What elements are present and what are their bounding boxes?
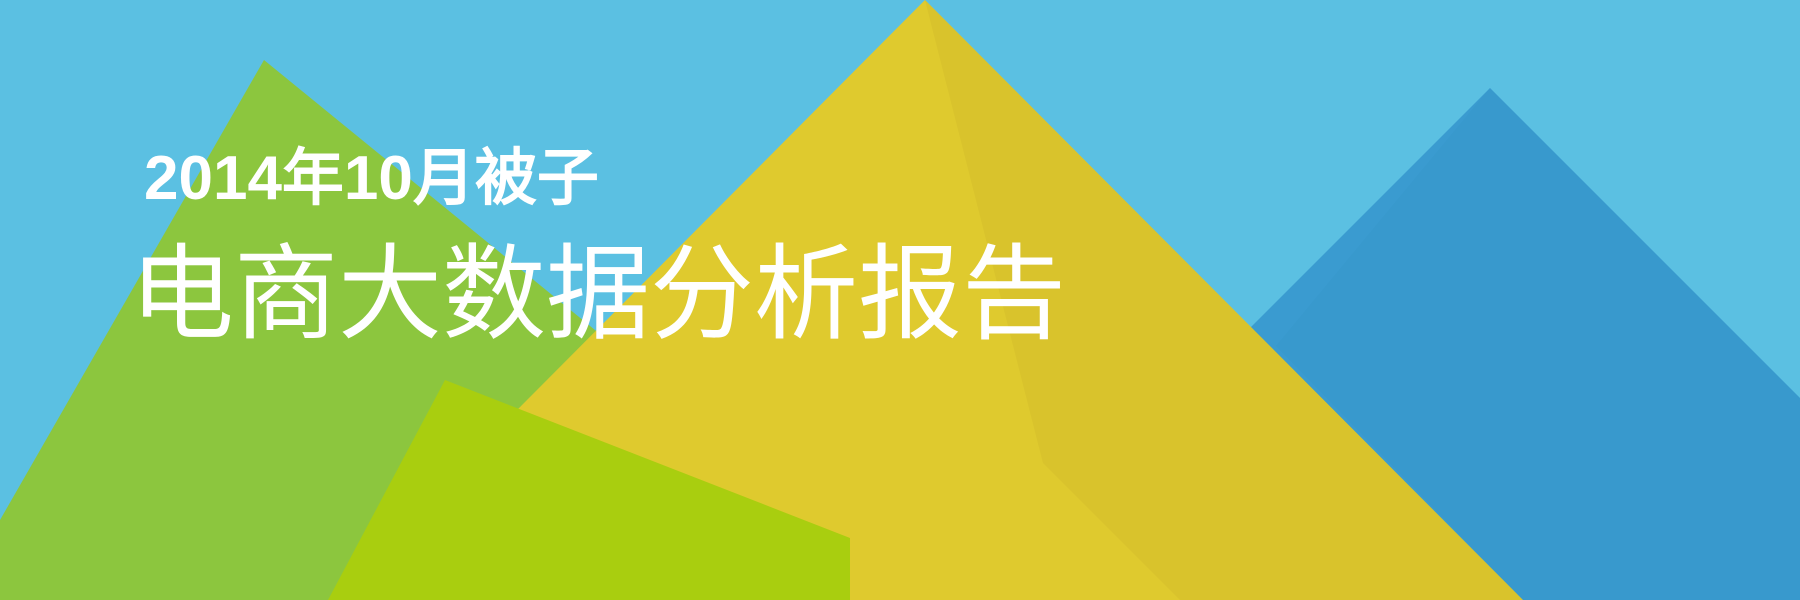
background-graphic <box>0 0 1800 600</box>
title-banner: 2014年10月被子 电商大数据分析报告 <box>0 0 1800 600</box>
